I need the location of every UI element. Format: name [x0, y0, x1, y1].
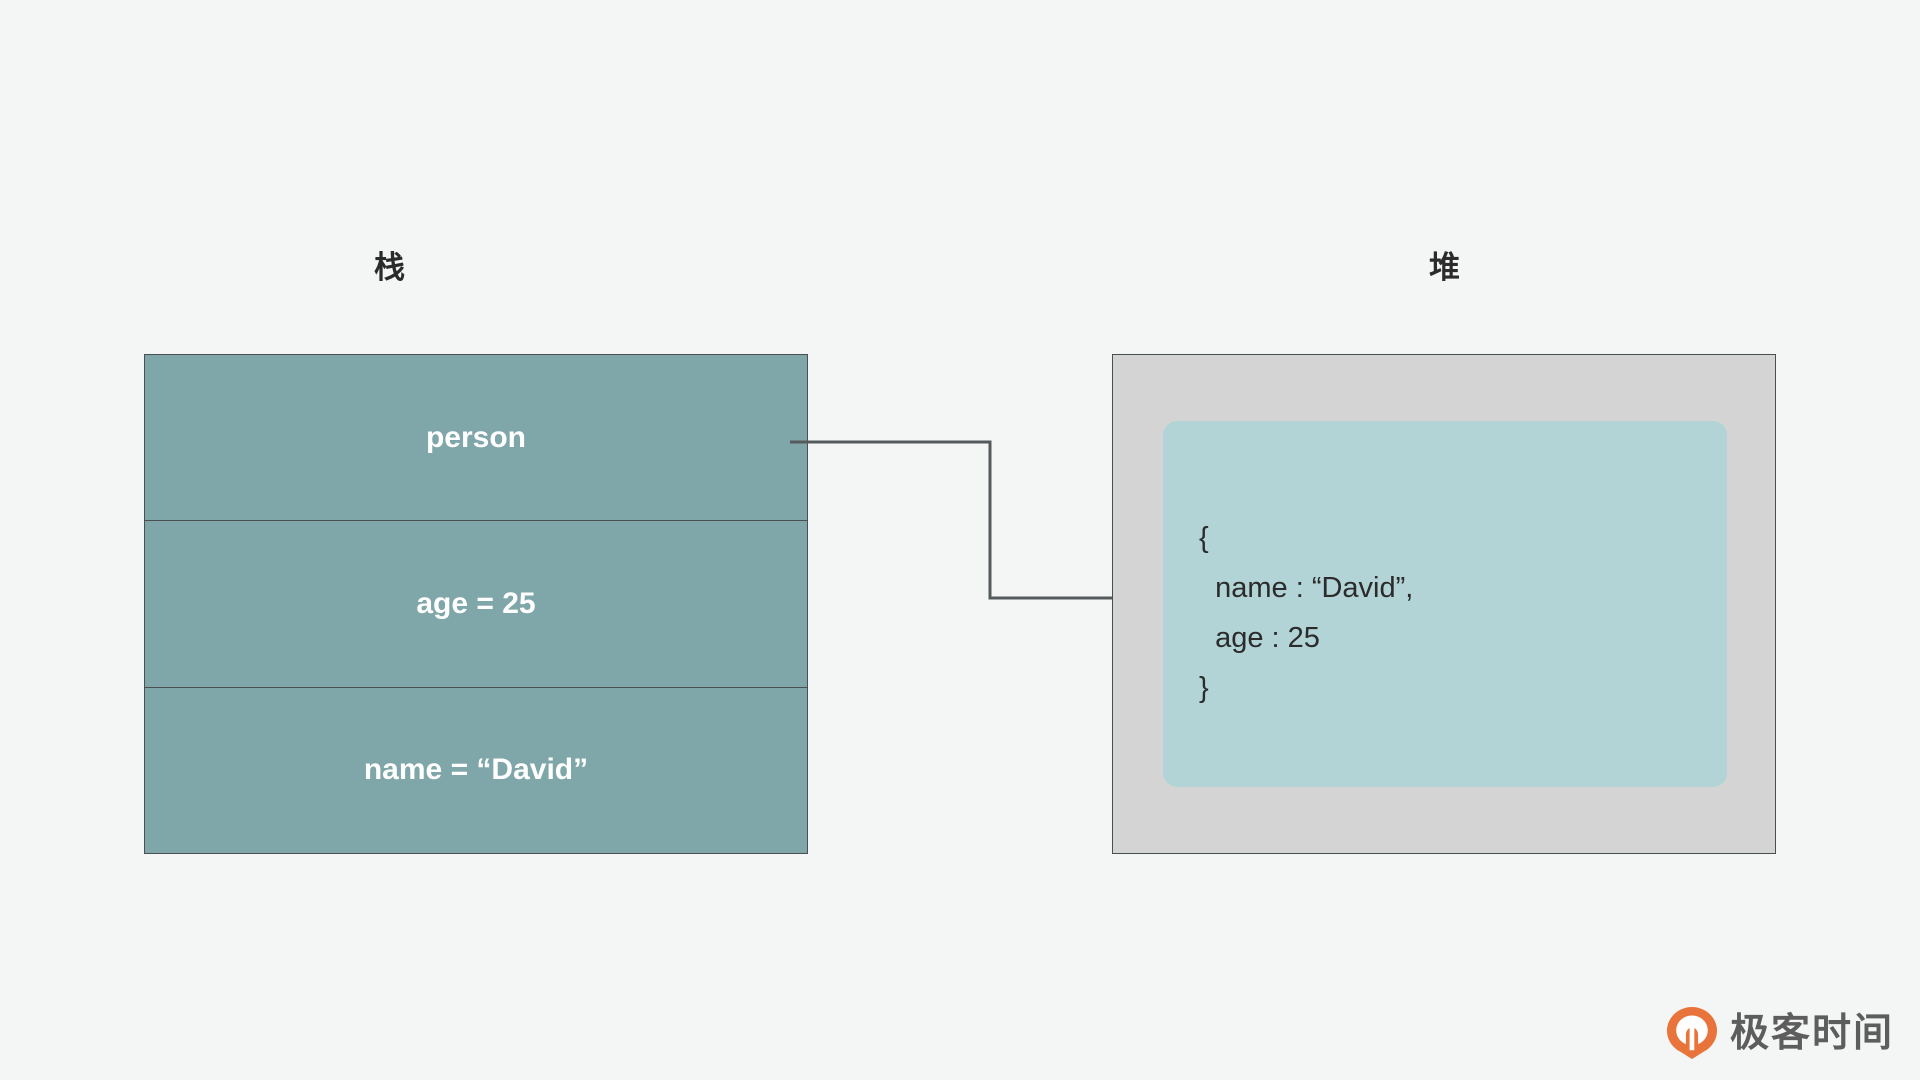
connector-path — [790, 442, 1150, 598]
watermark: 极客时间 — [1666, 1006, 1894, 1060]
stack-frame-label: age = 25 — [416, 587, 535, 621]
diagram-canvas: 栈 person age = 25 name = “David” 堆 { nam… — [0, 0, 1920, 1080]
stack-frame-label: person — [426, 421, 526, 455]
stack-title: 栈 — [300, 252, 480, 283]
stack-frame-label: name = “David” — [364, 753, 588, 787]
watermark-text: 极客时间 — [1730, 1014, 1894, 1053]
stack-container: person age = 25 name = “David” — [144, 354, 808, 854]
stack-frame-person: person — [145, 355, 807, 520]
stack-frame-name: name = “David” — [145, 687, 807, 853]
heap-container: { name : “David”, age : 25 } — [1112, 354, 1776, 854]
stack-frame-age: age = 25 — [145, 520, 807, 686]
heap-object-block: { name : “David”, age : 25 } — [1163, 421, 1727, 787]
heap-title: 堆 — [1355, 252, 1535, 283]
heap-object-code: { name : “David”, age : 25 } — [1199, 513, 1413, 713]
geektime-logo-icon — [1666, 1006, 1718, 1060]
